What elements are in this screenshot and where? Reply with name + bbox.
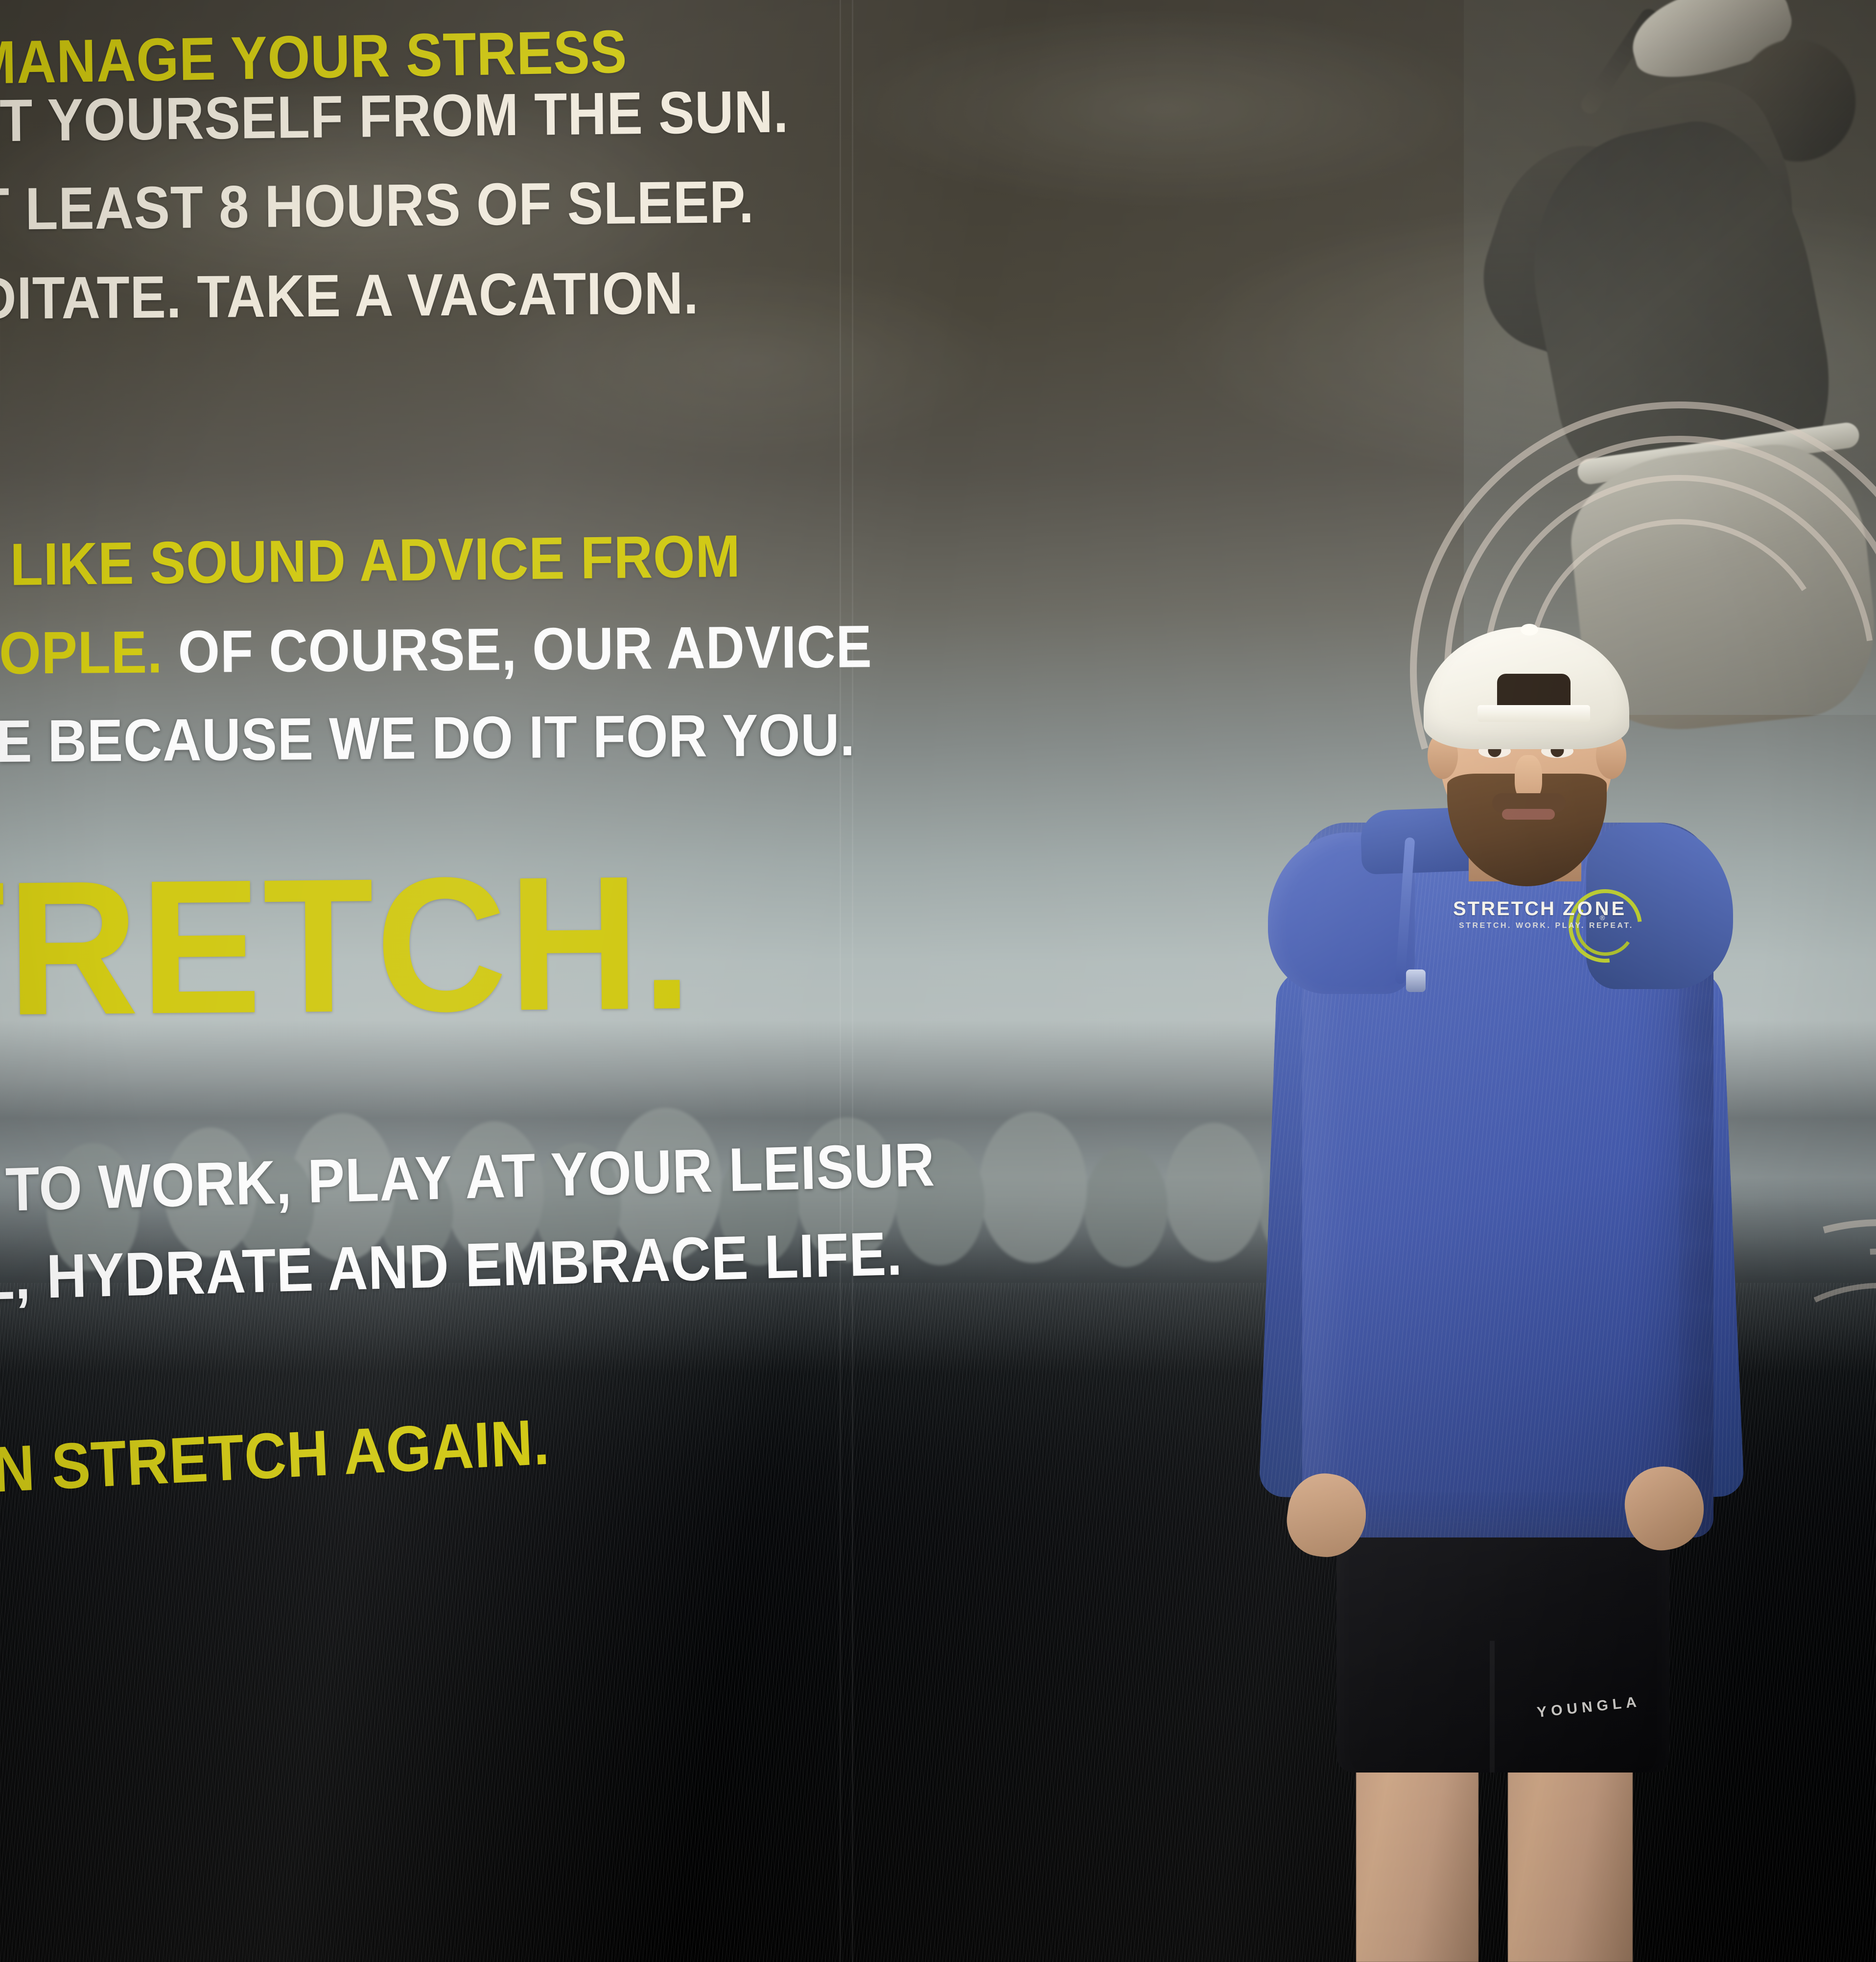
mural-headline-word: TRETCH	[0, 836, 642, 1056]
mural-line-go-to-work-play-at-your-leisure: O TO WORK, PLAY AT YOUR LEISUR	[0, 1129, 936, 1227]
mural-line-meditate-take-a-vacation: EDITATE. TAKE A VACATION.	[0, 259, 699, 333]
mural-headline-period: .	[640, 835, 694, 1049]
mural-line-sounds-like-sound-advice-from: DS LIKE SOUND ADVICE FROM	[0, 521, 741, 600]
shorts-seam	[1490, 1641, 1495, 1773]
mural-line-at-least-8-hours-of-sleep: AT LEAST 8 HOURS OF SLEEP.	[0, 167, 754, 244]
mouth	[1502, 809, 1555, 820]
zipper-pull-icon	[1406, 969, 1426, 992]
mural-line-people-of-course-our-advice: PEOPLE. OF COURSE, OUR ADVICE	[0, 612, 872, 688]
mural-line-hydrate-and-embrace-life: LL, HYDRATE AND EMBRACE LIFE.	[0, 1218, 903, 1315]
registered-trademark-icon: ®	[1600, 914, 1605, 922]
mural-line-then-stretch-again: EN STRETCH AGAIN.	[0, 1405, 551, 1509]
logo-word-zone: ZONE	[1563, 898, 1627, 920]
mural-segment-people: PEOPLE.	[0, 618, 163, 687]
head	[1419, 627, 1634, 857]
mural-segment-of-course-our-advice: OF COURSE, OUR ADVICE	[163, 613, 872, 685]
shorts-brand-label: YOUNGLA	[1536, 1694, 1641, 1721]
photo-scene: MANAGE YOUR STRESS ECT YOURSELF FROM THE…	[0, 0, 1876, 1962]
stretch-zone-chest-logo: STRETCH ZONE ® STRETCH. WORK. PLAY. REPE…	[1453, 886, 1644, 960]
mural-line-because-we-do-it-for-you: PLE BECAUSE WE DO IT FOR YOU.	[0, 700, 855, 776]
mural-line-protect-yourself-from-the-sun: ECT YOURSELF FROM THE SUN.	[0, 77, 789, 156]
cap-button-icon	[1521, 624, 1538, 636]
baseball-cap	[1424, 627, 1629, 749]
cap-strap	[1477, 705, 1590, 722]
mural-headline-stretch: TRETCH.	[0, 832, 695, 1060]
logo-word-stretch: STRETCH	[1453, 898, 1556, 920]
person-figure: YOUNGLA STRETCH ZONE ® STRETCH. WORK. PL…	[1214, 627, 1826, 1962]
logo-tagline: STRETCH. WORK. PLAY. REPEAT.	[1459, 922, 1634, 930]
